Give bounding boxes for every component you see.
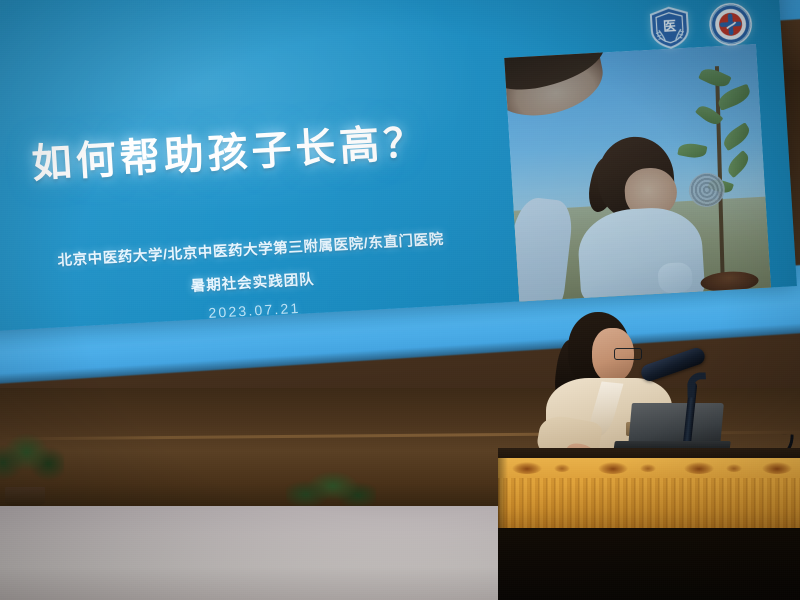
photo-blue-tint-overlay bbox=[504, 44, 771, 304]
podium-embroidery-medallion bbox=[640, 464, 656, 472]
plant-foliage bbox=[0, 432, 64, 485]
presentation-photo-scene: 医 如何帮助孩子长高？ 北京中医药大学/北京中医药大学第三附属医院/东 bbox=[0, 0, 800, 600]
university-shield-logo: 医 bbox=[647, 5, 692, 51]
podium-base bbox=[498, 528, 800, 600]
slide-logo-row: 医 bbox=[647, 1, 754, 51]
podium-embroidery-medallion bbox=[512, 462, 542, 474]
svg-text:医: 医 bbox=[663, 18, 677, 34]
podium-embroidery-medallion bbox=[554, 464, 570, 472]
presentation-slide: 医 如何帮助孩子长高？ 北京中医药大学/北京中医药大学第三附属医院/东 bbox=[0, 0, 797, 332]
hospital-circle-logo bbox=[707, 1, 754, 47]
slide-title: 如何帮助孩子长高？ bbox=[30, 109, 429, 189]
plant-pot bbox=[5, 487, 46, 506]
podium-embroidery-medallion bbox=[762, 462, 792, 474]
podium-embroidery-medallion bbox=[598, 462, 628, 474]
projection-screen: 医 如何帮助孩子长高？ 北京中医药大学/北京中医药大学第三附属医院/东 bbox=[0, 0, 797, 332]
podium-embroidery-medallion bbox=[726, 464, 742, 472]
presenter-glasses bbox=[614, 348, 642, 360]
potted-plant-left bbox=[0, 432, 64, 506]
slide-photo-tree-planting bbox=[504, 44, 771, 304]
podium-left-edge-shadow bbox=[498, 458, 508, 528]
podium-embroidery-medallion bbox=[684, 462, 714, 474]
podium bbox=[498, 448, 800, 600]
